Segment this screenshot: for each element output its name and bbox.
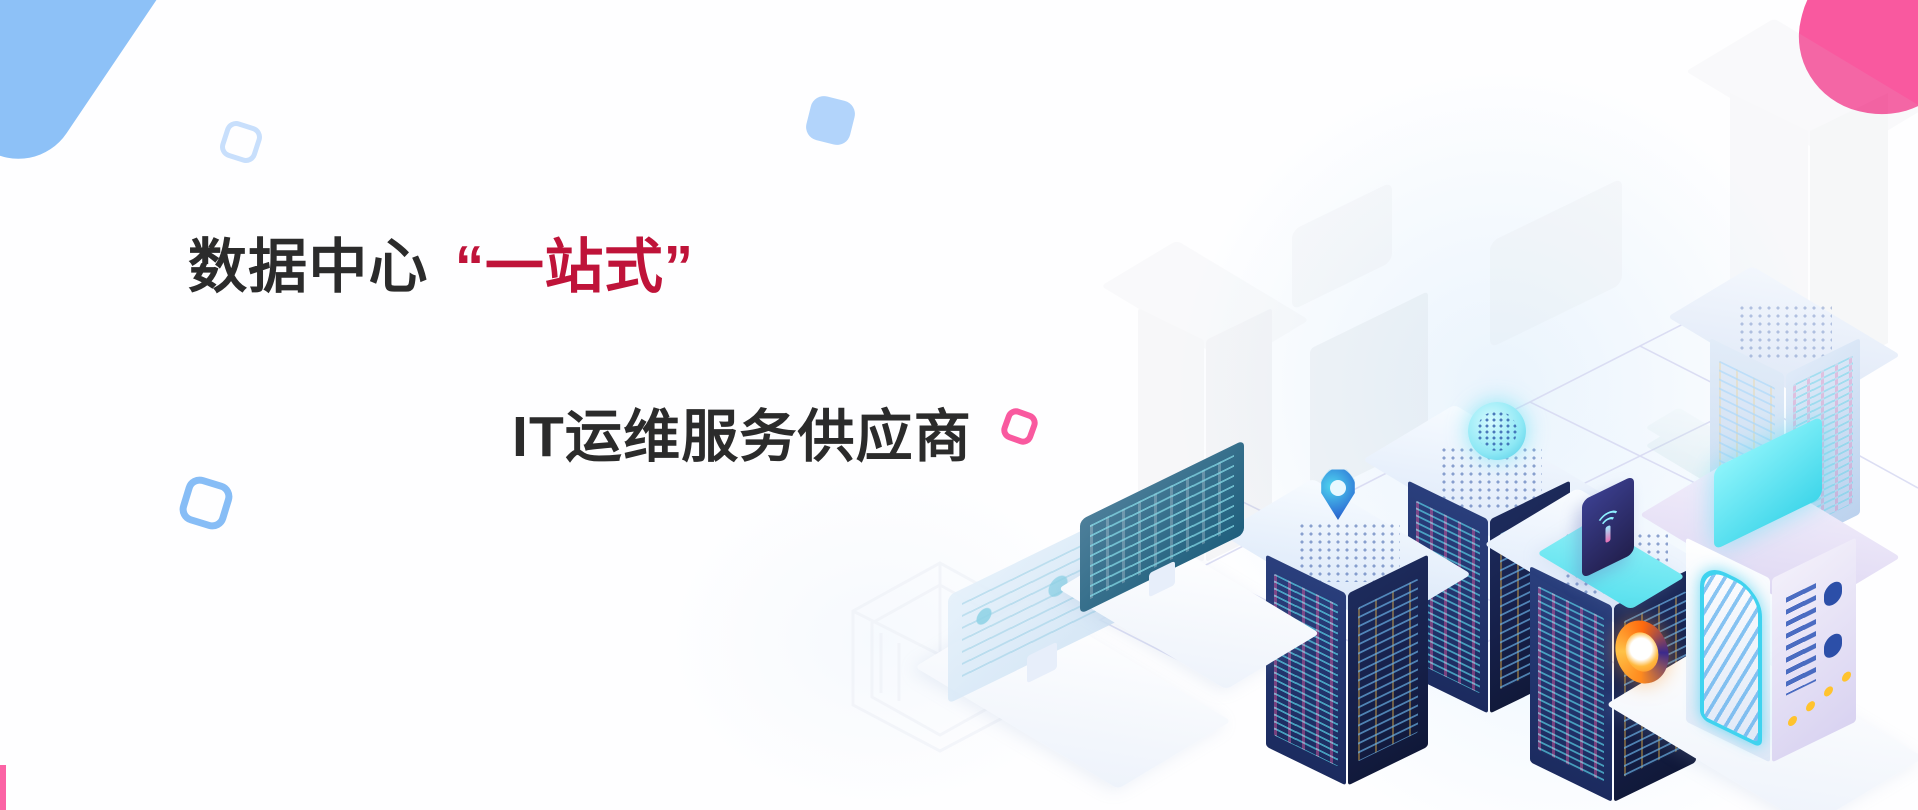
monitor-right [1080, 480, 1244, 612]
corner-blue-rounded-square [0, 0, 196, 181]
edge-pink-bar [0, 765, 6, 810]
headline-block: 数据中心“一站式” IT运维服务供应商 [188, 238, 1088, 466]
isometric-data-center-illustration [1060, 10, 1918, 810]
wifi-monitor-faded [1490, 210, 1630, 360]
ring-blue-top [217, 118, 265, 166]
hero-banner: 数据中心“一站式” IT运维服务供应商 [0, 0, 1918, 810]
headline-line-2: IT运维服务供应商 [512, 409, 1088, 466]
analysis-node-magnifier [1468, 402, 1526, 460]
headline-prefix: 数据中心 [188, 234, 429, 300]
headline-quoted: “一站式” [455, 234, 694, 300]
ring-blue-left [176, 473, 236, 533]
camera-icon-faded [1292, 206, 1412, 326]
headline-line-1: 数据中心“一站式” [188, 238, 1088, 297]
wifi-icon [1595, 506, 1621, 543]
cooling-cabinet [1676, 482, 1864, 744]
dot-blue-filled [803, 93, 858, 148]
